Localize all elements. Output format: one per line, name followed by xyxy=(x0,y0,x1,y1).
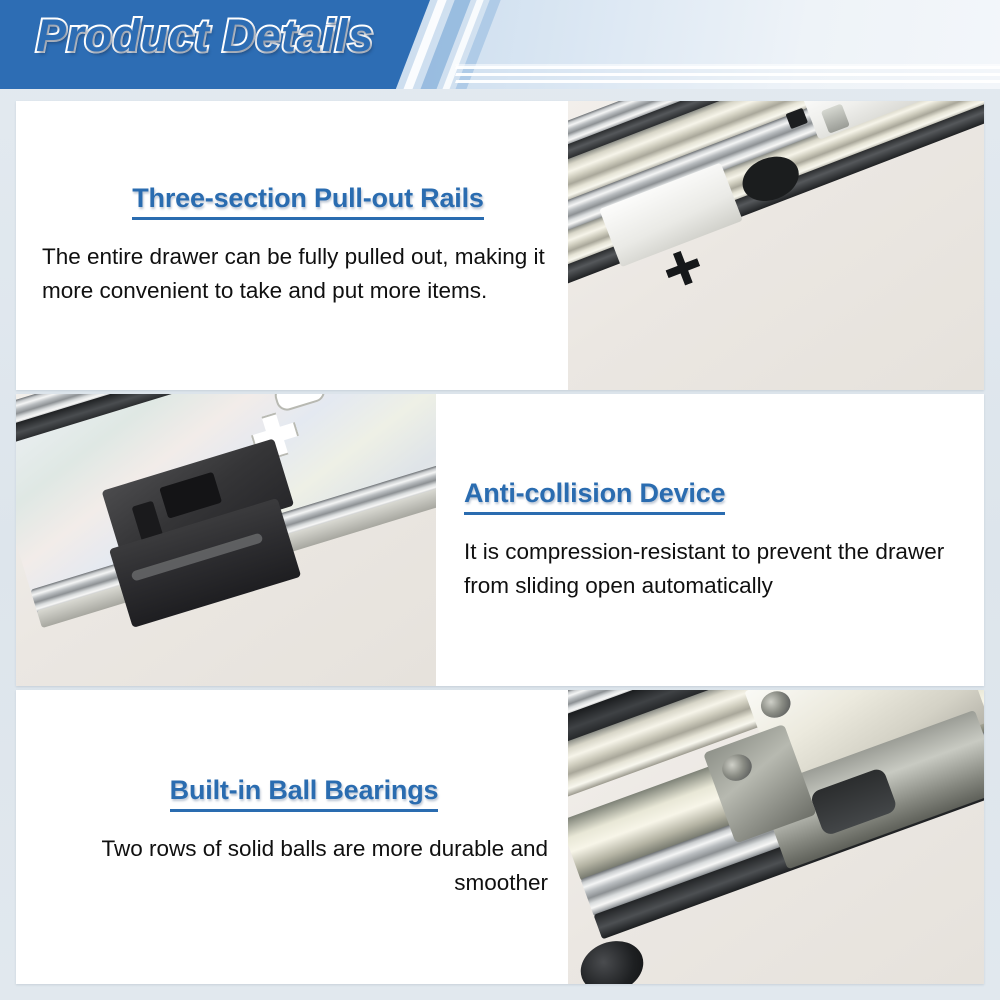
feature-section-2: Anti-collision Device It is compression-… xyxy=(16,394,984,686)
feature-1-text-pane: Three-section Pull-out Rails The entire … xyxy=(16,101,568,390)
feature-3-heading: Built-in Ball Bearings xyxy=(170,775,439,812)
banner-line xyxy=(455,80,1000,83)
feature-1-heading: Three-section Pull-out Rails xyxy=(132,183,483,220)
rail-cross-hole xyxy=(661,246,705,290)
feature-1-body: The entire drawer can be fully pulled ou… xyxy=(42,240,554,308)
feature-3-body: Two rows of solid balls are more durable… xyxy=(42,832,548,900)
feature-1-image xyxy=(568,101,984,390)
page-title: Product Details xyxy=(36,10,374,62)
feature-2-text-pane: Anti-collision Device It is compression-… xyxy=(436,394,984,686)
feature-section-1: Three-section Pull-out Rails The entire … xyxy=(16,101,984,390)
feature-section-3: Built-in Ball Bearings Two rows of solid… xyxy=(16,690,984,984)
feature-3-heading-wrap: Built-in Ball Bearings xyxy=(42,775,548,832)
product-details-page: Product Details Three-section Pull-out R… xyxy=(0,0,1000,1000)
banner-line xyxy=(455,73,1000,76)
feature-1-heading-wrap: Three-section Pull-out Rails xyxy=(42,183,554,240)
feature-3-text-pane: Built-in Ball Bearings Two rows of solid… xyxy=(16,690,568,984)
header-banner: Product Details xyxy=(0,0,1000,89)
feature-2-heading-wrap: Anti-collision Device xyxy=(464,478,958,535)
banner-line-group xyxy=(455,61,1000,87)
banner-line xyxy=(455,66,1000,69)
feature-2-body: It is compression-resistant to prevent t… xyxy=(464,535,958,603)
feature-3-image xyxy=(568,690,984,984)
feature-2-image xyxy=(16,394,436,686)
feature-2-heading: Anti-collision Device xyxy=(464,478,725,515)
